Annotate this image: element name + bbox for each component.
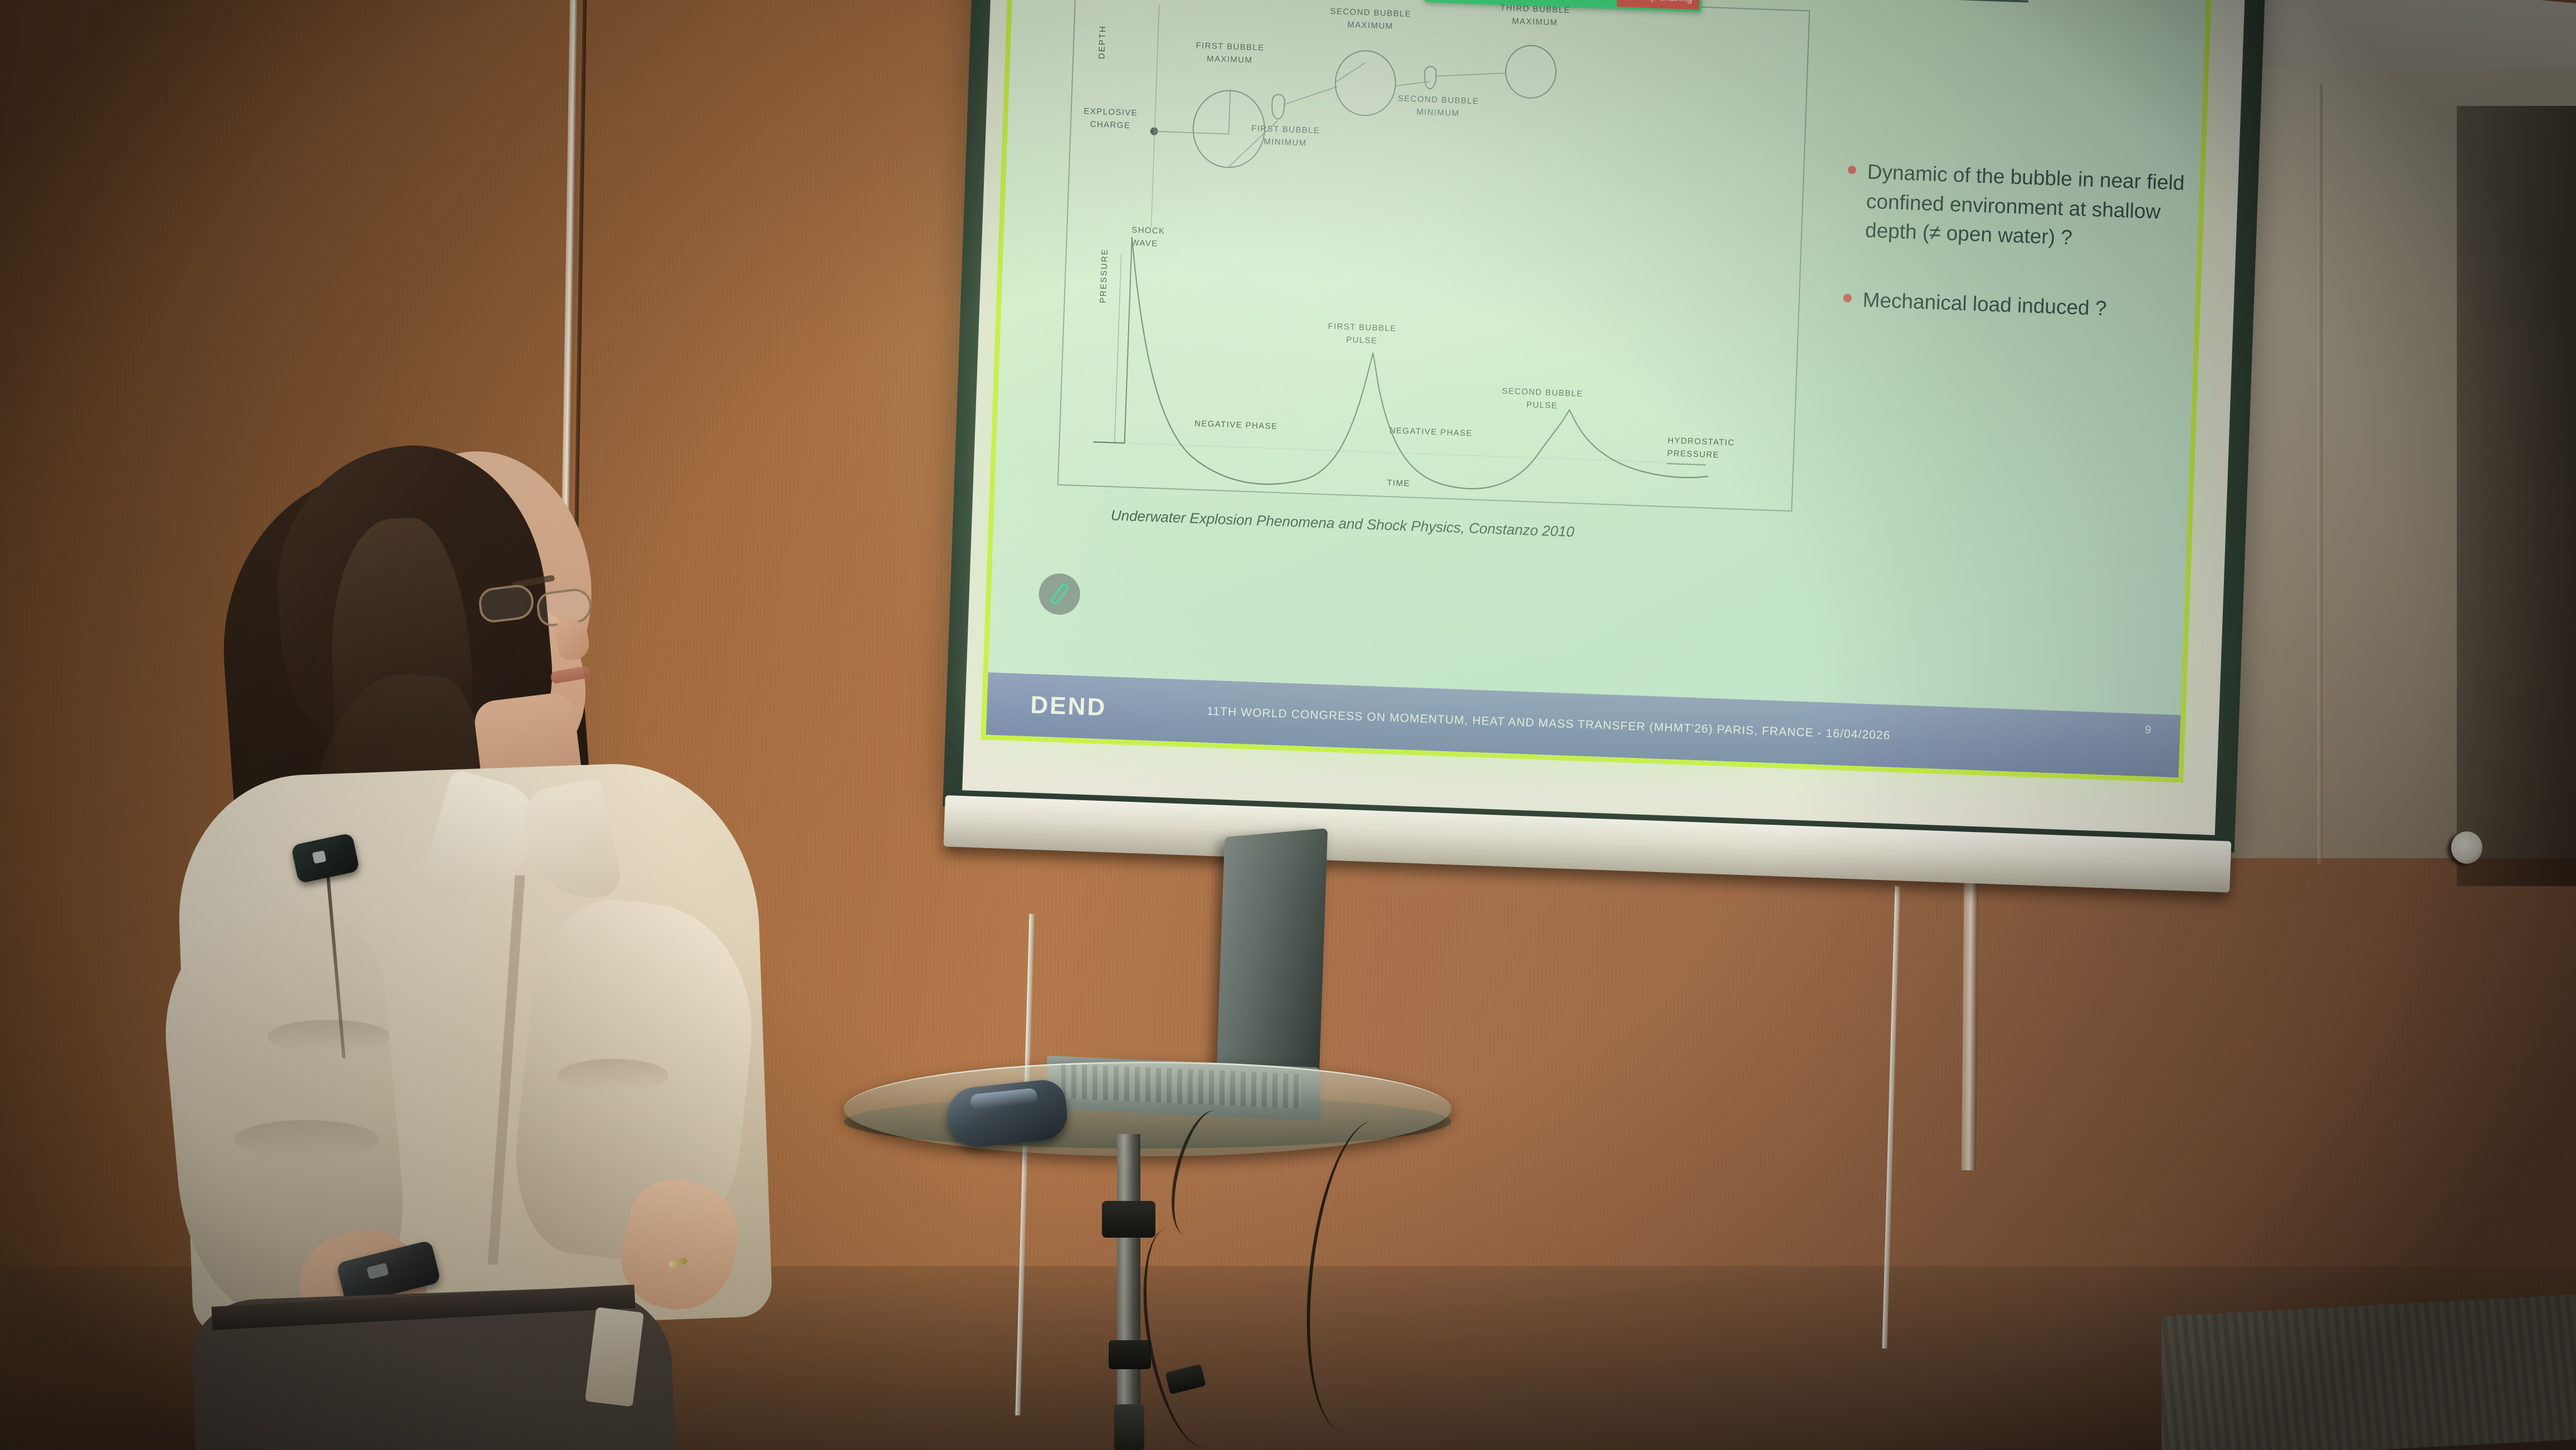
fabric-fold [234, 1120, 379, 1159]
presenter [167, 435, 947, 1450]
slide-logo-badge [1038, 573, 1081, 616]
bullet-dot-icon [1848, 166, 1857, 174]
slide-bullet-list: Dynamic of the bubble in near field conf… [1841, 157, 2204, 367]
table-pole [1117, 1134, 1140, 1450]
stop-sharing-button[interactable]: Stop sharing [1617, 0, 1700, 10]
slide-citation: Underwater Explosion Phenomena and Shock… [1110, 507, 1574, 541]
list-item: Mechanical load induced ? [1843, 285, 2200, 327]
footer-logo: DEND [1030, 691, 1107, 722]
stop-sharing-label: Stop sharing [1636, 0, 1692, 4]
bullet-dot-icon [1843, 294, 1852, 303]
projection-screen: Focus on the gas bubble dynamic and pres… [964, 0, 2279, 953]
wall-sensor-icon [2451, 831, 2482, 864]
presentation-photo-scene: Focus on the gas bubble dynamic and pres… [0, 0, 2576, 1450]
fabric-fold [267, 1020, 390, 1053]
pole-clamp [1109, 1340, 1151, 1369]
lens-left [477, 583, 536, 624]
wall-seam [2318, 84, 2323, 864]
eyeglasses-icon [479, 586, 596, 624]
capsule-icon [1050, 582, 1070, 606]
fabric-fold [557, 1059, 669, 1092]
carpet [2162, 1294, 2576, 1450]
list-item: Dynamic of the bubble in near field conf… [1845, 157, 2204, 257]
footer-congress-text: 11TH WORLD CONGRESS ON MOMENTUM, HEAT AN… [1207, 705, 1891, 743]
table-base [1114, 1404, 1144, 1450]
wall-corner-shadow [2457, 106, 2576, 886]
bullet-text: Mechanical load induced ? [1862, 285, 2107, 323]
pole-clamp [1102, 1201, 1155, 1238]
bubble-dynamics-diagram: DEPTH EXPLOSIVE CHARGE FIRST BUBBLE MAXI… [1057, 0, 1810, 512]
pressure-history-curve [1058, 0, 1811, 513]
bullet-text: Dynamic of the bubble in near field conf… [1865, 158, 2204, 257]
presentation-slide: Focus on the gas bubble dynamic and pres… [980, 0, 2213, 782]
slide-page-number: 9 [2145, 724, 2151, 737]
